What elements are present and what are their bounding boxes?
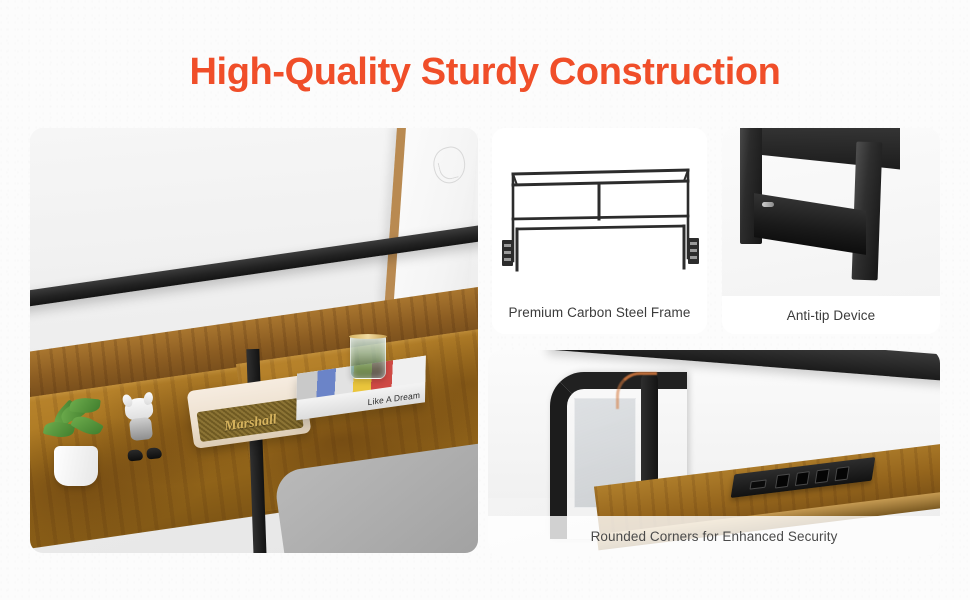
potted-plant — [48, 396, 110, 486]
plant-leaf — [69, 396, 100, 414]
figurine-body — [129, 417, 153, 441]
carbon-steel-frame-card: Premium Carbon Steel Frame — [492, 128, 707, 334]
outlet-socket — [835, 466, 850, 481]
steel-frame-diagram-icon — [492, 128, 707, 290]
infographic-page: High-Quality Sturdy Construction — [0, 0, 970, 600]
caption-premium-carbon-steel-frame: Premium Carbon Steel Frame — [492, 290, 707, 334]
caption-anti-tip-device: Anti-tip Device — [722, 296, 940, 334]
outlet-socket — [815, 469, 830, 484]
rounded-corners-card: Rounded Corners for Enhanced Security — [488, 350, 940, 556]
anti-tip-device-card: Anti-tip Device — [722, 128, 940, 334]
anti-tip-photo — [722, 128, 940, 296]
drinking-glass — [350, 335, 386, 379]
frame-line-art-icon — [430, 144, 470, 187]
anti-tip-screw — [762, 202, 774, 207]
page-title: High-Quality Sturdy Construction — [0, 52, 970, 94]
lifestyle-console-table-photo: Marshall Like A Dream — [30, 128, 478, 553]
outlet-socket — [795, 471, 810, 486]
usb-port-icon — [750, 479, 767, 489]
frame-diagram-canvas — [492, 128, 707, 290]
collectible-figurine — [120, 396, 162, 461]
plant-pot — [54, 446, 98, 486]
figurine-shoe — [127, 449, 143, 462]
plant-leaf — [70, 412, 104, 439]
hero-scene: Marshall Like A Dream — [30, 128, 478, 553]
caption-rounded-corners: Rounded Corners for Enhanced Security — [488, 516, 940, 556]
picture-frame — [385, 128, 478, 307]
outlet-socket — [775, 474, 790, 489]
figurine-shoe — [146, 447, 162, 460]
